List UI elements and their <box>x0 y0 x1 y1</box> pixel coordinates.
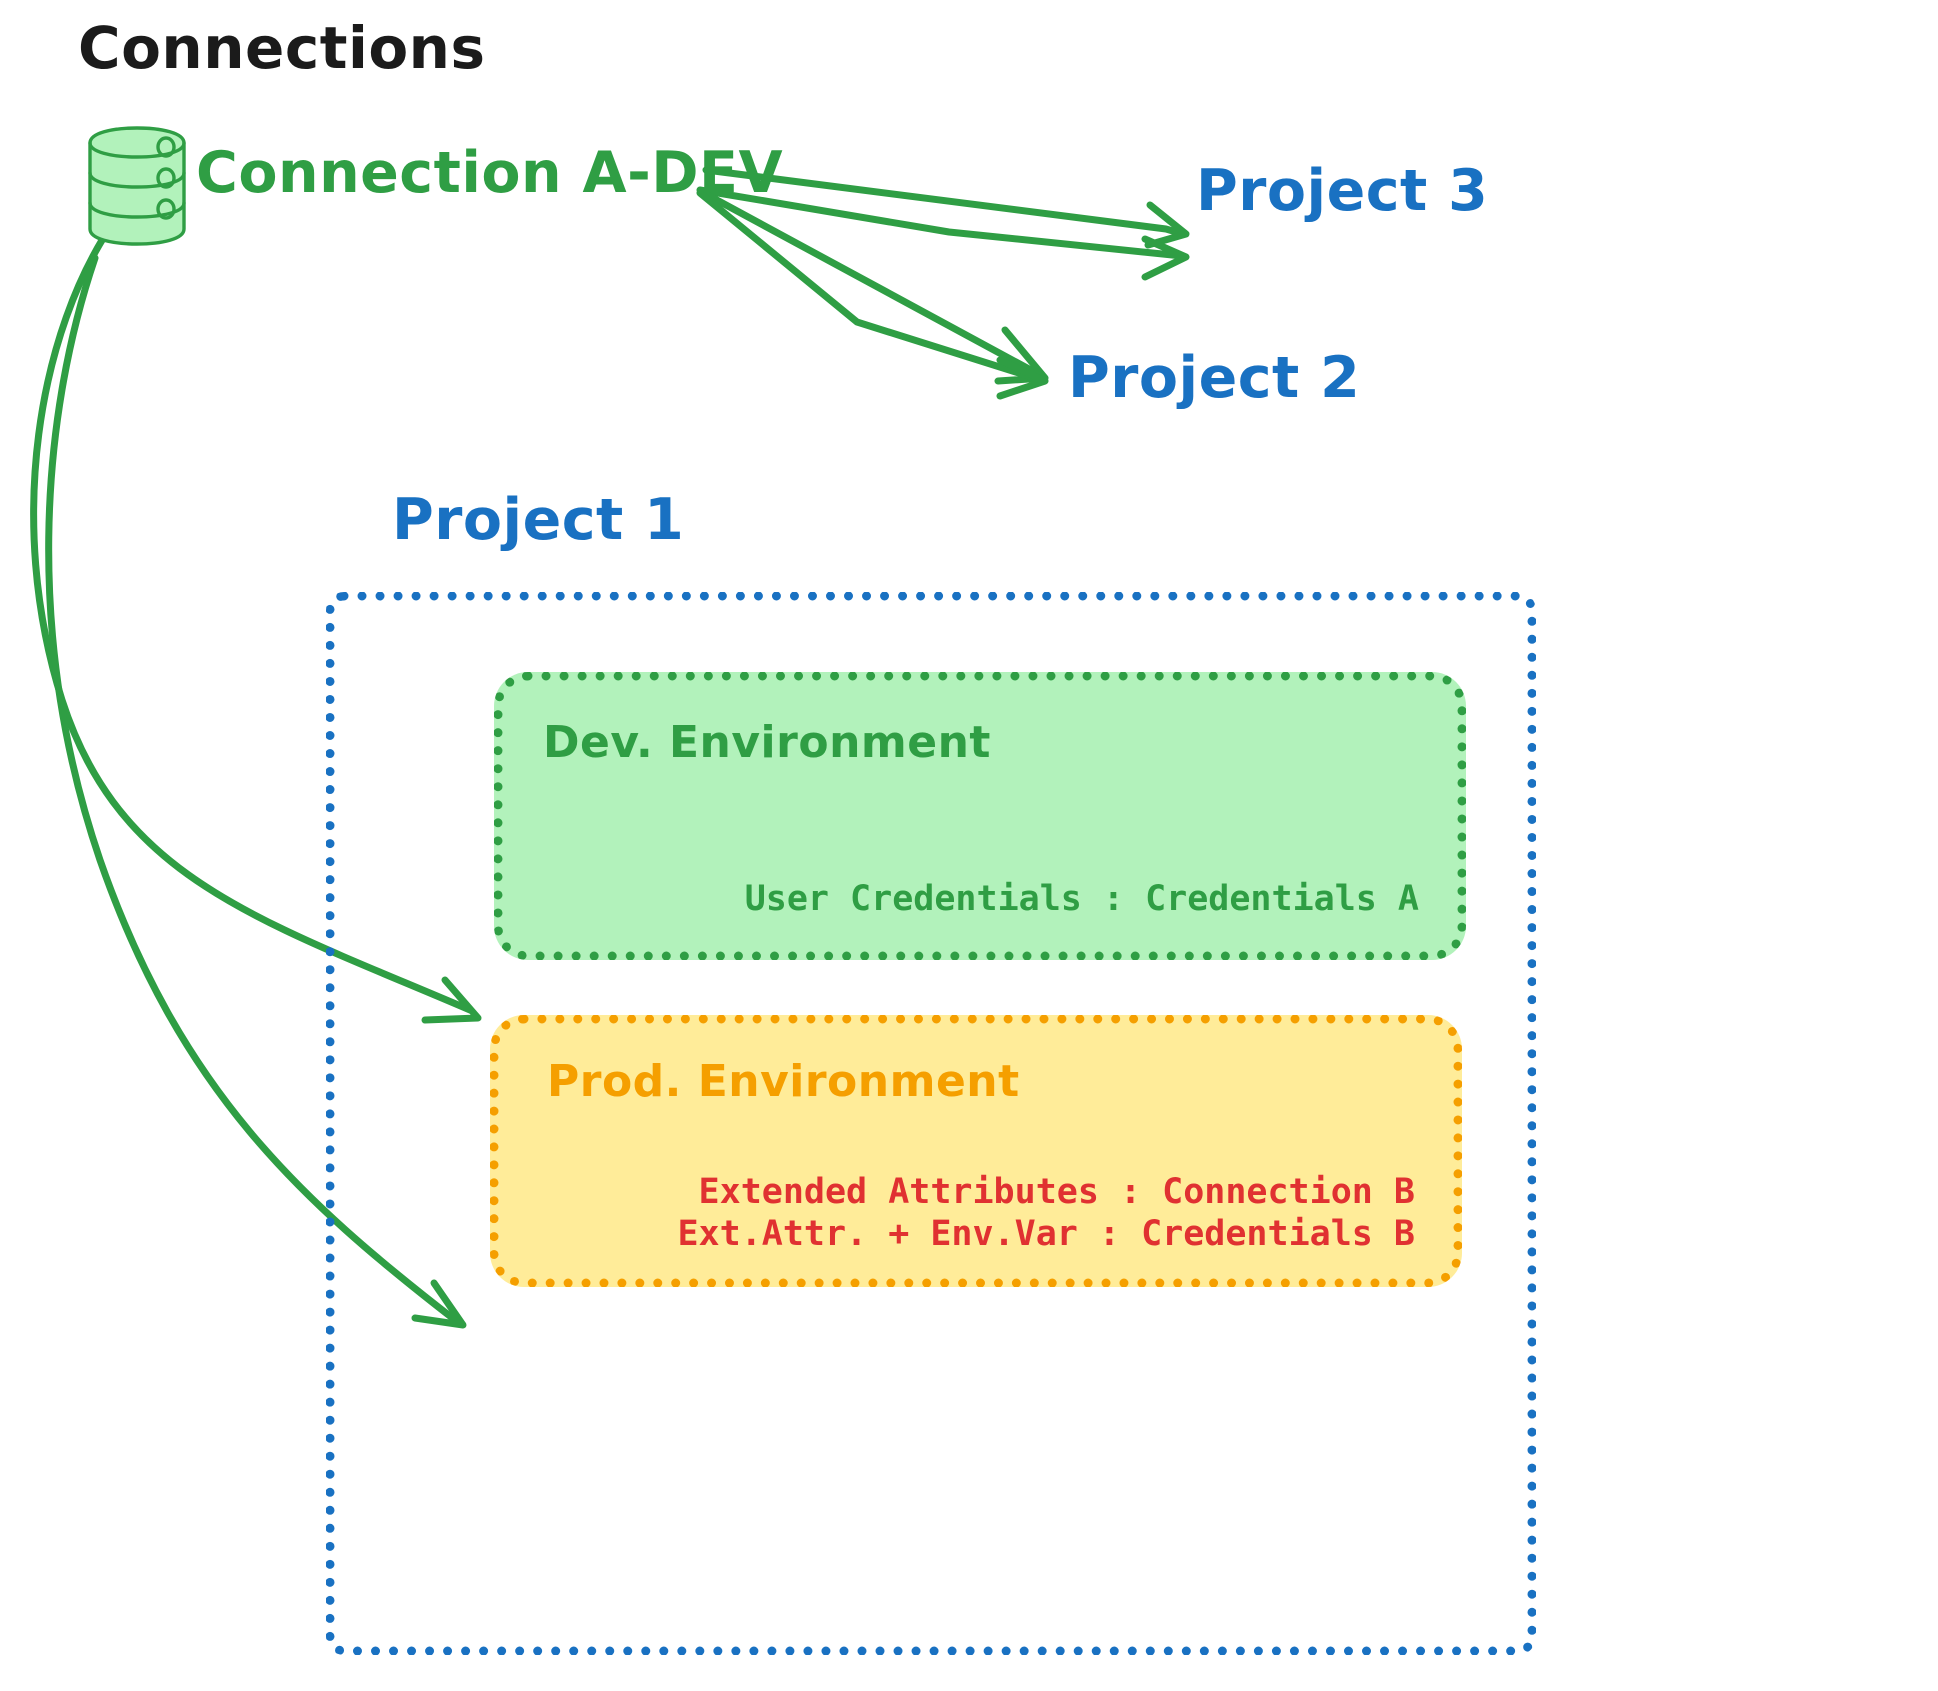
dev-environment-box[interactable]: Dev. Environment User Credentials : Cred… <box>494 672 1466 960</box>
prod-environment-attributes: Extended Attributes : Connection B Ext.A… <box>677 1171 1415 1256</box>
project-2-label[interactable]: Project 2 <box>1068 345 1360 411</box>
prod-attribute-line: Ext.Attr. + Env.Var : Credentials B <box>677 1213 1415 1256</box>
prod-attribute-line: Extended Attributes : Connection B <box>677 1171 1415 1214</box>
project-1-label[interactable]: Project 1 <box>392 487 684 553</box>
prod-environment-title: Prod. Environment <box>547 1056 1020 1107</box>
connection-a-dev-label[interactable]: Connection A-DEV <box>196 140 783 206</box>
dev-attribute-line: User Credentials : Credentials A <box>745 878 1419 921</box>
dev-environment-title: Dev. Environment <box>543 717 991 768</box>
arrow-conn-to-project2-b <box>700 193 1045 396</box>
prod-environment-box[interactable]: Prod. Environment Extended Attributes : … <box>490 1015 1462 1287</box>
diagram-canvas: Connections Connection A-DEV Project 3 P… <box>0 0 1938 1691</box>
arrow-conn-to-project2-a <box>702 192 1045 381</box>
project-3-label[interactable]: Project 3 <box>1196 158 1488 224</box>
dev-environment-attributes: User Credentials : Credentials A <box>745 878 1419 921</box>
database-icon <box>82 125 192 247</box>
page-title: Connections <box>78 14 485 82</box>
